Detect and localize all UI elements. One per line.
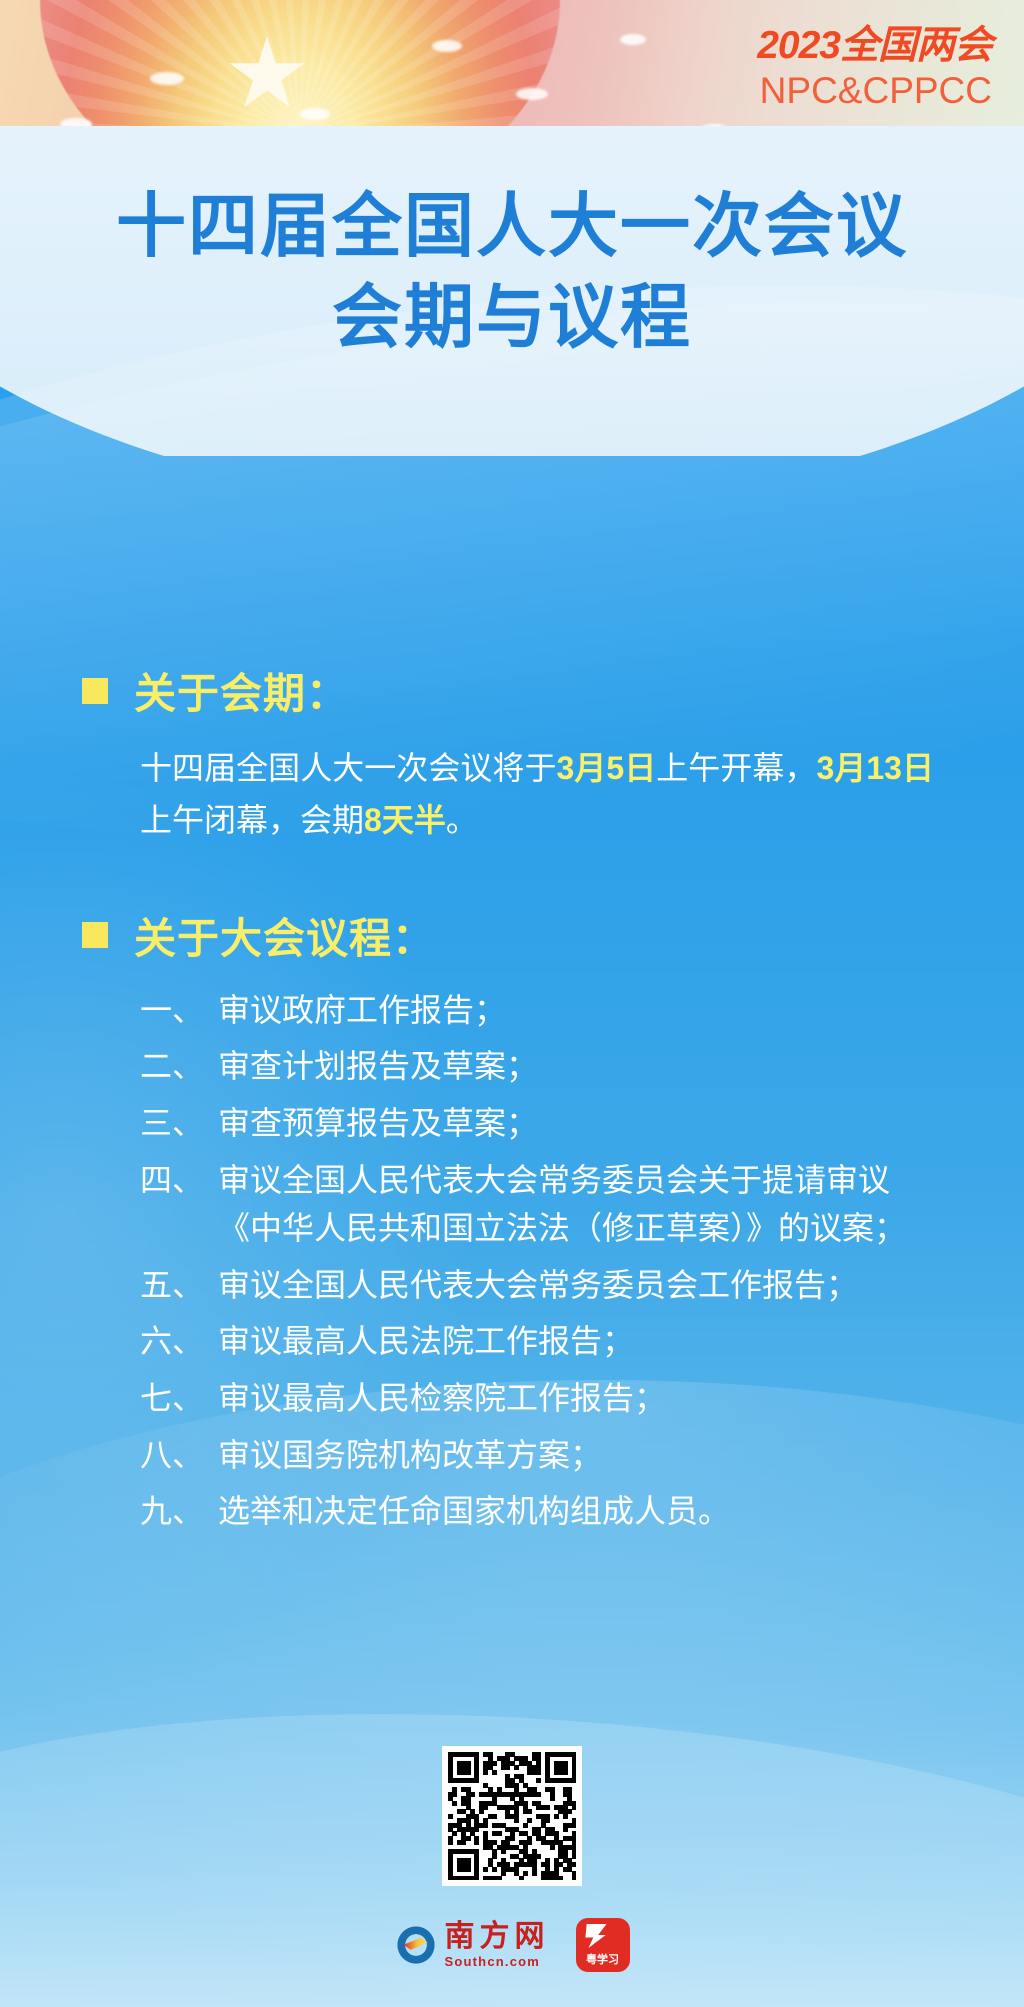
poster-root: 2023全国两会 NPC&CPPCC 十四届全国人大一次会议 会期与议程 关于会…: [0, 0, 1024, 2007]
brand-logo-chinese: 2023全国两会: [757, 26, 992, 65]
sparkle-dot: [516, 88, 548, 100]
section-heading-row: 关于大会议程：: [0, 905, 1024, 966]
list-item-number: 七、: [140, 1374, 218, 1423]
list-item: 六、 审议最高人民法院工作报告；: [140, 1317, 936, 1366]
body-part: 上午闭幕，会期: [140, 802, 364, 838]
npc-cppcc-brand-logo: 2023全国两会 NPC&CPPCC: [757, 26, 992, 109]
list-item-number: 八、: [140, 1431, 218, 1480]
list-item-number: 一、: [140, 986, 218, 1035]
page-title-line-1: 十四届全国人大一次会议: [0, 185, 1024, 268]
list-item-text: 审议全国人民代表大会常务委员会工作报告；: [218, 1261, 936, 1310]
list-item-number: 五、: [140, 1261, 218, 1310]
body-part-highlight: 8天半: [364, 802, 446, 838]
list-item-number: 二、: [140, 1042, 218, 1091]
yellow-square-bullet-icon: [82, 922, 108, 948]
body-part-highlight: 3月5日: [557, 750, 657, 786]
body-part: 。: [446, 802, 478, 838]
list-item: 八、 审议国务院机构改革方案；: [140, 1431, 936, 1480]
yellow-square-bullet-icon: [82, 678, 108, 704]
list-item-text: 审议最高人民法院工作报告；: [218, 1317, 936, 1366]
southcn-mark-icon: [395, 1924, 437, 1966]
list-item-text: 审议国务院机构改革方案；: [218, 1431, 936, 1480]
list-item-number: 六、: [140, 1317, 218, 1366]
southcn-logo-chinese: 南方网: [445, 1922, 550, 1953]
list-item: 四、 审议全国人民代表大会常务委员会关于提请审议《中华人民共和国立法法（修正草案…: [140, 1156, 936, 1253]
sparkle-dot: [150, 72, 184, 85]
brand-logo-english: NPC&CPPCC: [757, 72, 992, 109]
qr-code[interactable]: [442, 1746, 582, 1886]
southcn-logo-english: Southcn.com: [445, 1955, 550, 1968]
list-item-number: 三、: [140, 1099, 218, 1148]
list-item-number: 四、: [140, 1156, 218, 1205]
list-item-text: 选举和决定任命国家机构组成人员。: [218, 1487, 936, 1536]
sparkle-dot: [620, 34, 646, 45]
yuexuexi-mark-icon: [585, 1924, 607, 1948]
southcn-logo[interactable]: 南方网 Southcn.com: [395, 1922, 550, 1969]
sparkle-dot: [300, 108, 330, 120]
qr-code-image[interactable]: [448, 1752, 576, 1880]
list-item: 三、 审查预算报告及草案；: [140, 1099, 936, 1148]
footer-logos: 南方网 Southcn.com 粤学习: [0, 1918, 1024, 1972]
sparkle-dot: [432, 40, 462, 52]
southcn-logo-text: 南方网 Southcn.com: [445, 1922, 550, 1969]
list-item: 五、 审议全国人民代表大会常务委员会工作报告；: [140, 1261, 936, 1310]
agenda-list: 一、 审议政府工作报告； 二、 审查计划报告及草案； 三、 审查预算报告及草案；…: [0, 986, 1024, 1536]
list-item-text: 审议最高人民检察院工作报告；: [218, 1374, 936, 1423]
yuexuexi-logo[interactable]: 粤学习: [576, 1918, 630, 1972]
list-item-number: 九、: [140, 1487, 218, 1536]
section-heading-row: 关于会期：: [0, 660, 1024, 721]
section-heading-text: 关于大会议程：: [134, 905, 435, 966]
content-body: 关于会期： 十四届全国人大一次会议将于3月5日上午开幕，3月13日上午闭幕，会期…: [0, 660, 1024, 1544]
section-body-text: 十四届全国人大一次会议将于3月5日上午开幕，3月13日上午闭幕，会期8天半。: [0, 743, 1024, 847]
list-item-text: 审议全国人民代表大会常务委员会关于提请审议《中华人民共和国立法法（修正草案）》的…: [218, 1156, 936, 1253]
list-item-text: 审议政府工作报告；: [218, 986, 936, 1035]
section-heading-text: 关于会期：: [134, 660, 349, 721]
body-part: 上午开幕，: [656, 750, 816, 786]
list-item-text: 审查计划报告及草案；: [218, 1042, 936, 1091]
list-item-text: 审查预算报告及草案；: [218, 1099, 936, 1148]
list-item: 一、 审议政府工作报告；: [140, 986, 936, 1035]
list-item: 九、 选举和决定任命国家机构组成人员。: [140, 1487, 936, 1536]
page-title: 十四届全国人大一次会议 会期与议程: [0, 185, 1024, 358]
list-item: 七、 审议最高人民检察院工作报告；: [140, 1374, 936, 1423]
section-agenda: 关于大会议程： 一、 审议政府工作报告； 二、 审查计划报告及草案； 三、 审查…: [0, 905, 1024, 1536]
section-meeting-dates: 关于会期： 十四届全国人大一次会议将于3月5日上午开幕，3月13日上午闭幕，会期…: [0, 660, 1024, 847]
list-item: 二、 审查计划报告及草案；: [140, 1042, 936, 1091]
page-title-line-2: 会期与议程: [0, 276, 1024, 359]
body-part: 十四届全国人大一次会议将于: [140, 750, 557, 786]
yuexuexi-logo-label: 粤学习: [586, 1951, 619, 1967]
body-part-highlight: 3月13日: [816, 750, 934, 786]
